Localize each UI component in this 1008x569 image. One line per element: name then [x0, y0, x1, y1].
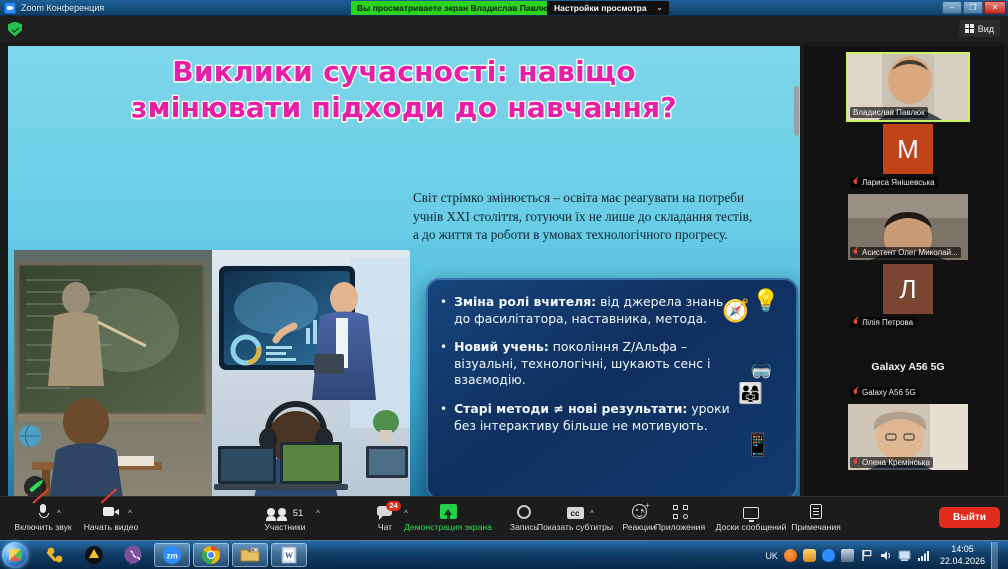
participant-name: Galaxy A56 5G — [862, 388, 916, 397]
mute-options-caret-icon[interactable]: ^ — [57, 509, 61, 518]
minimize-button[interactable]: – — [942, 1, 962, 14]
zoom-meeting-window: Вид Виклики сучасності: навіщо змінювати… — [0, 16, 1008, 540]
mic-muted-icon — [853, 459, 859, 467]
toolbar-notes-label: Примечания — [791, 522, 841, 532]
update-icon[interactable] — [803, 549, 816, 562]
google-chrome-icon[interactable] — [193, 543, 229, 567]
apps-icon — [673, 505, 688, 519]
video-options-caret-icon[interactable]: ^ — [128, 509, 132, 518]
encryption-shield-icon — [8, 22, 22, 37]
toolbar-notes-button[interactable]: Примечания — [770, 501, 862, 532]
classroom-illustration — [14, 250, 410, 506]
participant-tile[interactable]: Владислав Павлюк — [848, 54, 968, 120]
avatar-initial: М — [897, 134, 919, 165]
avatar: Л — [883, 264, 933, 314]
taskbar-clock[interactable]: 14:05 22.04.2026 — [940, 544, 985, 567]
notes-icon — [810, 504, 822, 519]
grid-icon — [965, 24, 974, 33]
share-screen-icon — [440, 504, 457, 519]
viber-icon[interactable] — [115, 543, 151, 567]
chevron-down-icon: ⌄ — [657, 4, 663, 12]
screen-share-banner: Вы просматриваете экран Владислав Павлюк — [351, 1, 559, 15]
meeting-toolbar: Включить звук ^ Начать видео ^ 51 Участн… — [0, 496, 1008, 540]
avast-icon[interactable] — [784, 549, 797, 562]
participant-name: Владислав Павлюк — [853, 108, 925, 117]
mic-muted-icon — [853, 179, 859, 187]
tray-language-indicator[interactable]: UK — [765, 551, 778, 561]
participants-count: 51 — [293, 508, 304, 519]
window-controls: – ❐ ✕ — [942, 1, 1006, 14]
volume-icon[interactable] — [879, 549, 892, 562]
participant-name-badge: Олена Кремінська — [850, 457, 933, 468]
slide-paragraph: Світ стрімко змінюється – освіта має реа… — [413, 189, 758, 245]
media-player-icon[interactable] — [37, 543, 73, 567]
bullet-dot: • — [440, 294, 447, 327]
participant-tile[interactable]: Galaxy A56 5G Galaxy A56 5G — [848, 334, 968, 400]
bullet-dot: • — [440, 401, 447, 434]
zoom-icon[interactable]: zm — [154, 543, 190, 567]
avatar-initial: Л — [899, 274, 916, 305]
svg-text:zm: zm — [166, 552, 177, 561]
slide-photo-classroom — [14, 250, 410, 506]
bullet-item: • Зміна ролі вчителя: від джерела знань … — [440, 294, 740, 327]
toolbar-participants-label: Участники — [264, 522, 305, 532]
screen-root: Zoom Конференция Вы просматриваете экран… — [0, 0, 1008, 569]
participant-name: Асистент Олег Миколай... — [862, 248, 958, 257]
tablet-icon: 📱 — [744, 434, 771, 456]
bullet-3-bold: Старі методи ≠ нові результати: — [454, 401, 687, 416]
participant-name: Лілія Петрова — [862, 318, 913, 327]
presentation-slide: Виклики сучасності: навіщо змінювати під… — [8, 46, 800, 516]
participant-tile[interactable]: М Лариса Янішевська — [848, 124, 968, 190]
avatar: М — [883, 124, 933, 174]
mic-muted-icon — [853, 319, 859, 327]
slide-title-line-1: Виклики сучасності: навіщо — [8, 54, 800, 90]
toolbar-participants-button[interactable]: 51 Участники — [248, 501, 322, 532]
maximize-button[interactable]: ❐ — [963, 1, 983, 14]
compass-icon: 🧭 — [722, 300, 749, 322]
signal-bars-icon[interactable] — [917, 549, 930, 562]
participant-tile[interactable]: Олена Кремінська — [848, 404, 968, 470]
windows-taskbar: zm W UK 14:05 — [0, 540, 1008, 569]
slide-bullet-card: • Зміна ролі вчителя: від джерела знань … — [426, 278, 798, 500]
bullet-1-bold: Зміна ролі вчителя: — [454, 294, 596, 309]
acdsee-icon[interactable] — [76, 543, 112, 567]
show-desktop-button[interactable] — [991, 542, 998, 569]
participant-name-badge: Лілія Петрова — [850, 317, 916, 328]
participant-name: Лариса Янішевська — [862, 178, 935, 187]
word-icon[interactable]: W — [271, 543, 307, 567]
bullet-2-bold: Новий учень: — [454, 339, 549, 354]
closed-captions-icon: cc — [567, 507, 584, 519]
slide-title-line-2: змінювати підходи до навчання? — [8, 90, 800, 126]
captions-options-caret-icon[interactable]: ^ — [590, 509, 594, 518]
vr-headset-icon: 🥽 — [750, 362, 772, 380]
camera-off-icon — [103, 503, 119, 519]
chat-unread-badge: 24 — [386, 501, 401, 511]
zoom-tray-icon[interactable] — [822, 549, 835, 562]
zoom-top-bar: Вид — [0, 16, 1008, 42]
view-settings-label: Настройки просмотра — [554, 3, 647, 13]
toolbar-video-button[interactable]: Начать видео — [74, 501, 148, 532]
flag-icon[interactable] — [860, 549, 873, 562]
leave-meeting-button[interactable]: Выйти — [939, 507, 1000, 528]
mic-muted-icon — [853, 249, 859, 257]
toolbar-apps-label: Приложения — [655, 522, 705, 532]
bullet-dot: • — [440, 339, 447, 389]
shared-screen-scrollbar[interactable] — [794, 86, 799, 136]
printer-icon[interactable] — [841, 549, 854, 562]
toolbar-mute-button[interactable]: Включить звук — [6, 501, 80, 532]
participant-name-badge: Асистент Олег Миколай... — [850, 247, 961, 258]
zoom-icon — [4, 2, 16, 14]
bullet-item: • Старі методи ≠ нові результати: уроки … — [440, 401, 740, 434]
shared-screen-area[interactable]: Виклики сучасності: навіщо змінювати під… — [8, 46, 800, 516]
system-tray: UK 14:05 22.04.2026 — [765, 541, 1004, 569]
participant-tile[interactable]: Асистент Олег Миколай... — [848, 194, 968, 260]
svg-text:W: W — [285, 551, 293, 560]
network-icon[interactable] — [898, 549, 911, 562]
view-layout-button[interactable]: Вид — [959, 20, 1000, 37]
clock-time: 14:05 — [940, 544, 985, 555]
mic-muted-icon — [853, 389, 859, 397]
participant-tile[interactable]: Л Лілія Петрова — [848, 264, 968, 330]
clock-date: 22.04.2026 — [940, 556, 985, 567]
window-title: Zoom Конференция — [21, 3, 104, 13]
microphone-muted-icon — [35, 503, 51, 519]
lightbulb-icon: 💡 — [752, 290, 779, 312]
participant-name-badge: Владислав Павлюк — [850, 107, 928, 118]
view-button-label: Вид — [978, 24, 994, 34]
bullet-item: • Новий учень: покоління Z/Альфа – візуа… — [440, 339, 740, 389]
toolbar-mute-label: Включить звук — [14, 522, 71, 532]
windows-start-orb[interactable] — [2, 542, 28, 568]
view-settings-dropdown[interactable]: Настройки просмотра ⌄ — [547, 1, 669, 15]
toolbar-video-label: Начать видео — [84, 522, 139, 532]
toolbar-share-label: Демонстрация экрана — [404, 522, 492, 532]
file-explorer-icon[interactable] — [232, 543, 268, 567]
participants-options-caret-icon[interactable]: ^ — [316, 509, 320, 518]
participant-name-badge: Galaxy A56 5G — [850, 387, 919, 398]
slide-title: Виклики сучасності: навіщо змінювати під… — [8, 54, 800, 126]
close-button[interactable]: ✕ — [984, 1, 1006, 14]
participants-icon — [267, 505, 289, 519]
whiteboard-icon — [743, 507, 759, 519]
participants-filmstrip[interactable]: Владислав Павлюк М Лариса Янішевська — [804, 46, 1004, 516]
window-titlebar: Zoom Конференция Вы просматриваете экран… — [0, 0, 1008, 16]
people-group-icon: 👨‍👩‍👧 — [738, 384, 763, 404]
participant-name-badge: Лариса Янішевська — [850, 177, 938, 188]
participant-name: Олена Кремінська — [862, 458, 930, 467]
